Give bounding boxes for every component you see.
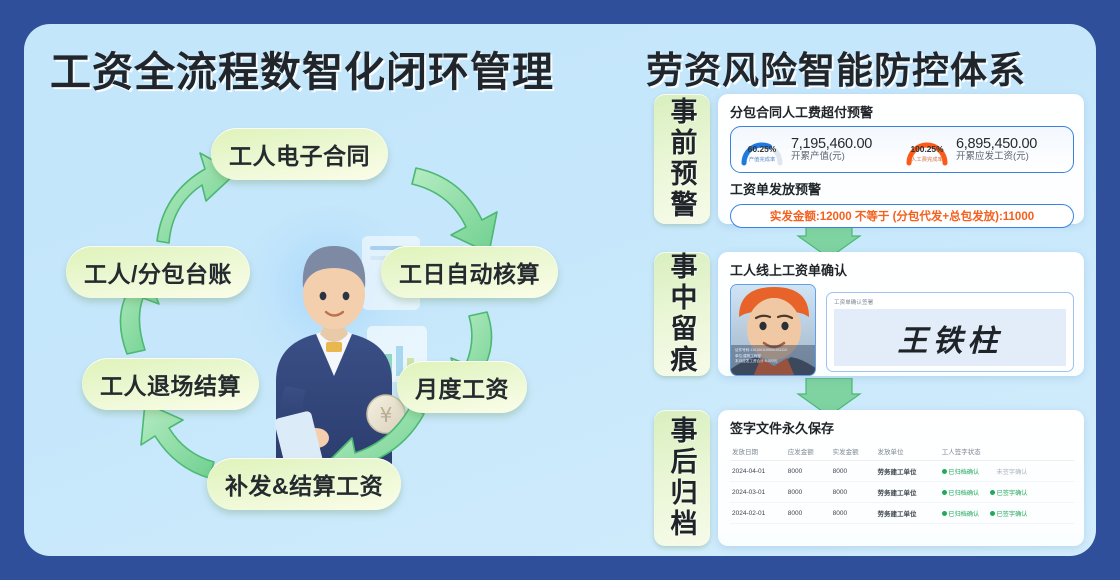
photo-info-overlay: 证件号码:110100119900101111X 单位:建筑工程部 本月应发工资…	[731, 345, 815, 375]
flow-node-backpay-settlement[interactable]: 补发&结算工资	[207, 458, 401, 510]
cell-due: 8000	[786, 461, 831, 482]
overlay-line: 本月应发工资合计:8,000元	[735, 359, 811, 365]
flow-node-monthly-salary[interactable]: 月度工资	[397, 361, 527, 413]
cell-unit: 劳务建工单位	[875, 503, 939, 524]
stage-post-archive: 事后归档 签字文件永久保存 发放日期 应发金额 实发金额 发放单位 工人签字状态	[654, 410, 1084, 546]
table-row[interactable]: 2024-04-01 8000 8000 劳务建工单位 已归档确认 未签字确认	[730, 461, 1074, 482]
archive-table: 发放日期 应发金额 实发金额 发放单位 工人签字状态 2024-04-01 80…	[730, 442, 1074, 524]
flow-node-workday-auto-accounting[interactable]: 工日自动核算	[381, 246, 558, 298]
col-header-status: 工人签字状态	[940, 442, 1074, 461]
flow-node-label: 工人电子合同	[229, 137, 370, 171]
section-title-subcontract-overpay: 分包合同人工费超付预警	[730, 102, 1074, 121]
stage-tab-label: 事中留痕	[663, 252, 702, 376]
main-panel: 工资全流程数智化闭环管理 劳资风险智能防控体系	[24, 24, 1096, 556]
cell-paid: 8000	[831, 461, 876, 482]
status-badge-signature: 未签字确认	[990, 469, 1027, 476]
cell-unit: 劳务建工单位	[875, 461, 939, 482]
col-header-paid: 实发金额	[831, 442, 876, 461]
cell-paid: 8000	[831, 482, 876, 503]
table-row[interactable]: 2024-03-01 8000 8000 劳务建工单位 已归档确认 已签字确认	[730, 482, 1074, 503]
stage-pre-warning: 事前预警 分包合同人工费超付预警 60.25%	[654, 94, 1084, 224]
gauge-caption: 人工费完成率	[901, 155, 953, 163]
cell-unit: 劳务建工单位	[875, 482, 939, 503]
stage-tab-label: 事后归档	[663, 416, 702, 540]
cell-due: 8000	[786, 482, 831, 503]
signature-card-caption: 工资单确认签署	[834, 298, 1066, 306]
flow-node-label: 工人退场结算	[100, 367, 241, 401]
flow-node-worker-exit-settlement[interactable]: 工人退场结算	[82, 358, 259, 410]
metric-caption-accumulated-payable: 开累应发工资(元)	[956, 152, 1037, 163]
status-badge-archived: 已归档确认	[942, 490, 979, 497]
section-title-permanent-archive: 签字文件永久保存	[730, 418, 1074, 437]
signature-canvas[interactable]: 王铁柱	[834, 309, 1066, 366]
metric-value-accumulated-output: 7,195,460.00	[791, 136, 872, 152]
cell-due: 8000	[786, 503, 831, 524]
section-title-online-payslip-confirm: 工人线上工资单确认	[730, 260, 1074, 279]
stage-tab-pre-warning[interactable]: 事前预警	[654, 94, 710, 224]
flow-node-worker-subcontract-ledger[interactable]: 工人/分包台账	[66, 246, 250, 298]
cell-status: 已归档确认 已签字确认	[940, 482, 1074, 503]
flow-node-label: 工人/分包台账	[84, 255, 232, 289]
payroll-lifecycle-diagram: ¥	[24, 96, 624, 556]
gauge-caption: 产值完成率	[736, 155, 788, 163]
status-badge-archived: 已归档确认	[942, 511, 979, 518]
screenshot-root: 工资全流程数智化闭环管理 劳资风险智能防控体系	[0, 0, 1120, 580]
gauge-output-completion: 60.25% 产值完成率	[739, 133, 785, 167]
signature-card: 工资单确认签署 王铁柱	[826, 292, 1074, 372]
cell-status: 已归档确认 未签字确认	[940, 461, 1074, 482]
flow-node-label: 工日自动核算	[399, 255, 540, 289]
risk-control-stages: 事前预警 分包合同人工费超付预警 60.25%	[654, 94, 1096, 556]
flow-node-label: 补发&结算工资	[225, 467, 383, 501]
stage-body-pre-warning: 分包合同人工费超付预警 60.25% 产值完成率	[718, 94, 1084, 224]
gauge-card: 60.25% 产值完成率 7,195,460.00 开累产值(元)	[730, 126, 1074, 173]
payslip-mismatch-alert: 实发金额:12000 不等于 (分包代发+总包发放):11000	[730, 204, 1074, 228]
metric-value-accumulated-payable: 6,895,450.00	[956, 136, 1037, 152]
stage-body-in-process-trace: 工人线上工资单确认	[718, 252, 1084, 376]
cell-date: 2024-02-01	[730, 503, 786, 524]
col-header-unit: 发放单位	[875, 442, 939, 461]
cell-status: 已归档确认 已签字确认	[940, 503, 1074, 524]
cell-date: 2024-04-01	[730, 461, 786, 482]
gauge-percent-value: 60.25%	[739, 144, 785, 154]
col-header-date: 发放日期	[730, 442, 786, 461]
right-section-title: 劳资风险智能防控体系	[646, 40, 1026, 94]
cell-date: 2024-03-01	[730, 482, 786, 503]
status-badge-signature: 已签字确认	[990, 511, 1027, 518]
metric-caption-accumulated-output: 开累产值(元)	[791, 152, 872, 163]
stage-tab-post-archive[interactable]: 事后归档	[654, 410, 710, 546]
gauge-percent-value: 100.25%	[904, 144, 950, 154]
stage-tab-label: 事前预警	[663, 97, 702, 221]
stage-tab-in-process-trace[interactable]: 事中留痕	[654, 252, 710, 376]
stage-in-process-trace: 事中留痕 工人线上工资单确认	[654, 252, 1084, 376]
flow-node-worker-econtract[interactable]: 工人电子合同	[211, 128, 388, 180]
section-title-payslip-warning: 工资单发放预警	[730, 179, 1074, 198]
table-row[interactable]: 2024-02-01 8000 8000 劳务建工单位 已归档确认 已签字确认	[730, 503, 1074, 524]
table-header-row: 发放日期 应发金额 实发金额 发放单位 工人签字状态	[730, 442, 1074, 461]
gauge-unit-output-value: 60.25% 产值完成率 7,195,460.00 开累产值(元)	[739, 133, 900, 167]
signature-text: 王铁柱	[898, 316, 1003, 360]
gauge-labor-cost-completion: 100.25% 人工费完成率	[904, 133, 950, 167]
col-header-due: 应发金额	[786, 442, 831, 461]
stage-body-post-archive: 签字文件永久保存 发放日期 应发金额 实发金额 发放单位 工人签字状态	[718, 410, 1084, 546]
status-badge-archived: 已归档确认	[942, 469, 979, 476]
flow-node-label: 月度工资	[415, 370, 509, 404]
worker-photo: 证件号码:110100119900101111X 单位:建筑工程部 本月应发工资…	[730, 284, 816, 376]
gauge-unit-labor-cost: 100.25% 人工费完成率 6,895,450.00 开累应发工资(元)	[904, 133, 1065, 167]
cell-paid: 8000	[831, 503, 876, 524]
status-badge-signature: 已签字确认	[990, 490, 1027, 497]
left-section-title: 工资全流程数智化闭环管理	[50, 38, 554, 98]
